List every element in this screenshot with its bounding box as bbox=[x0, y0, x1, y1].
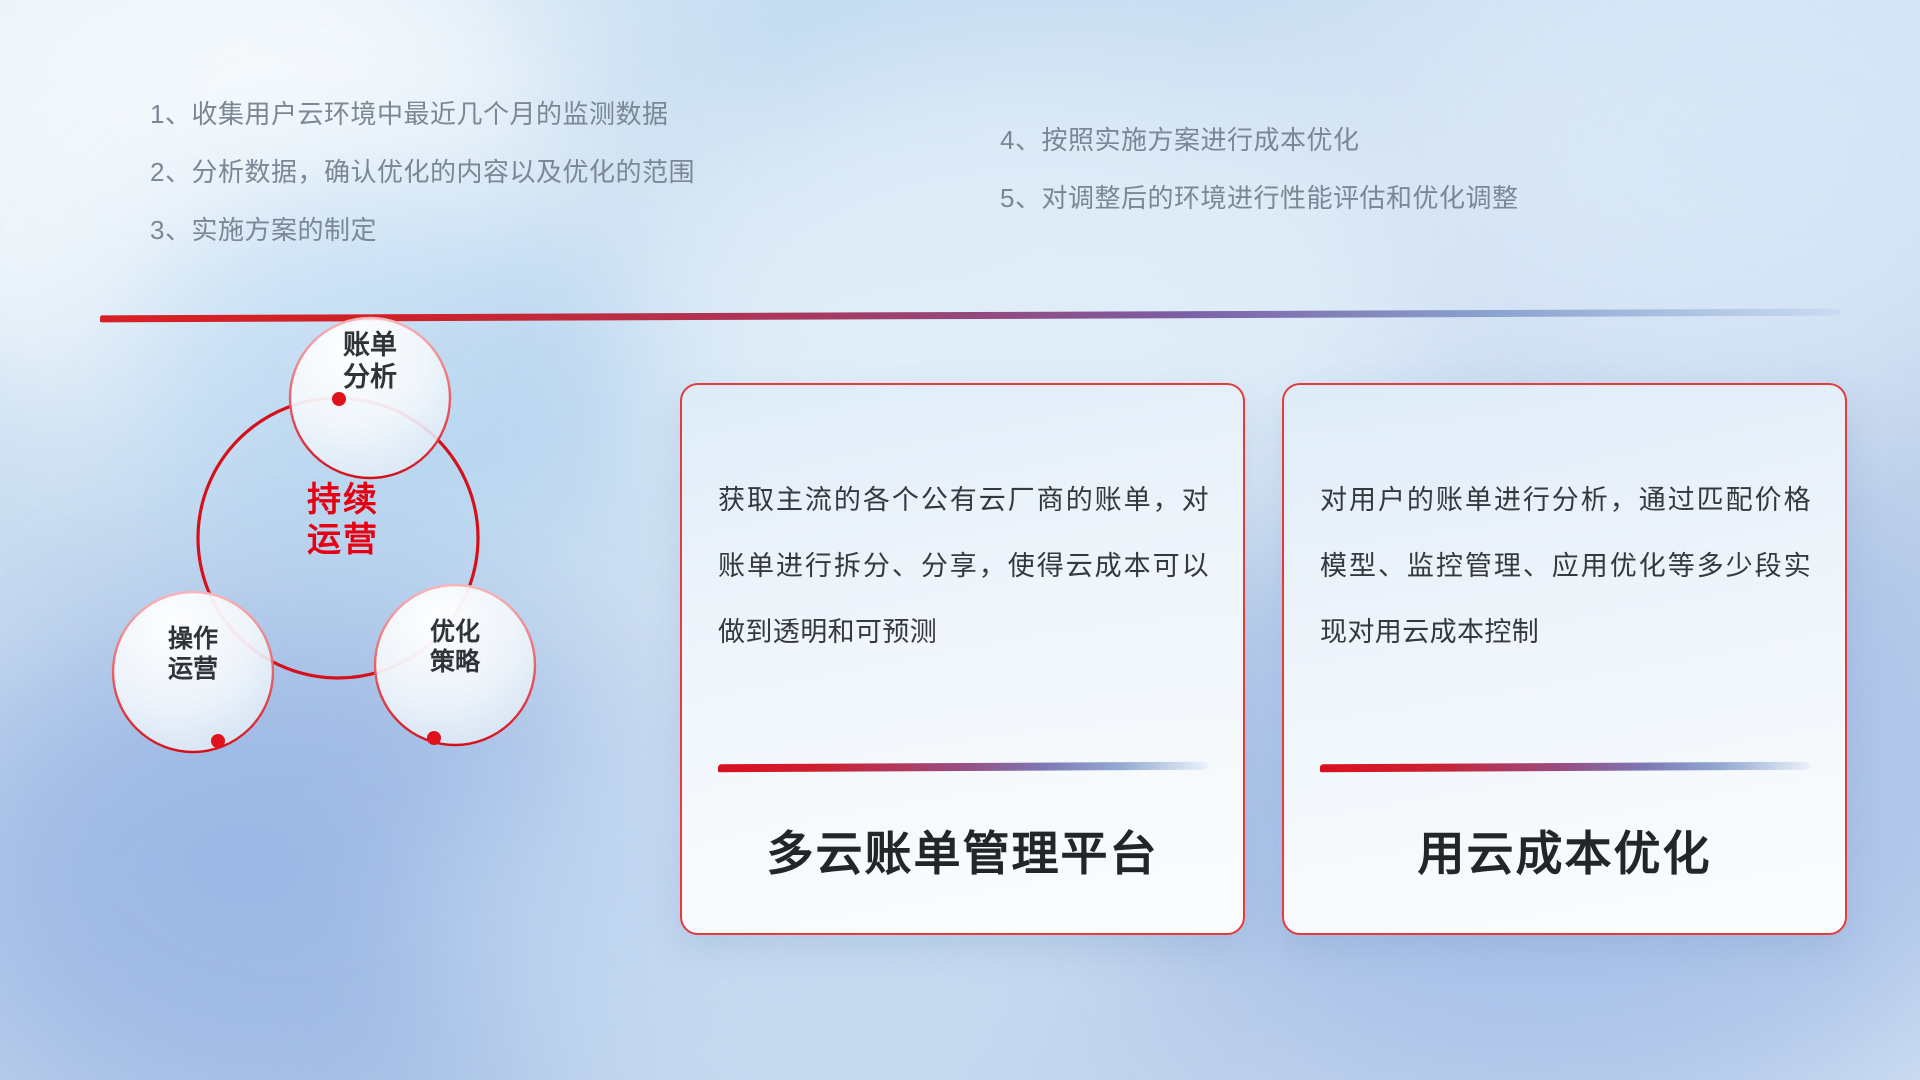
card-divider bbox=[718, 762, 1208, 773]
step-item: 3、实施方案的制定 bbox=[150, 217, 695, 243]
card-divider bbox=[1320, 762, 1810, 773]
step-item: 1、收集用户云环境中最近几个月的监测数据 bbox=[150, 101, 695, 127]
step-item: 2、分析数据，确认优化的内容以及优化的范围 bbox=[150, 159, 695, 185]
card-body-text: 对用户的账单进行分析，通过匹配价格模型、监控管理、应用优化等多少段实现对用云成本… bbox=[1320, 467, 1811, 665]
info-card-multicloud-billing[interactable]: 获取主流的各个公有云厂商的账单，对账单进行拆分、分享，使得云成本可以做到透明和可… bbox=[680, 383, 1245, 935]
node-dot-top bbox=[332, 392, 346, 406]
card-body-text: 获取主流的各个公有云厂商的账单，对账单进行拆分、分享，使得云成本可以做到透明和可… bbox=[718, 467, 1209, 665]
node-dot-left bbox=[211, 734, 225, 748]
slide-canvas: 1、收集用户云环境中最近几个月的监测数据 2、分析数据，确认优化的内容以及优化的… bbox=[0, 0, 1920, 1080]
venn-diagram: 账单 分析 持续 运营 操作 运营 优化 策略 bbox=[90, 290, 560, 790]
venn-label-strategy: 优化 策略 bbox=[385, 618, 525, 677]
info-card-cost-optimization[interactable]: 对用户的账单进行分析，通过匹配价格模型、监控管理、应用优化等多少段实现对用云成本… bbox=[1282, 383, 1847, 935]
venn-label-operations: 操作 运营 bbox=[123, 625, 263, 684]
step-item: 4、按照实施方案进行成本优化 bbox=[1000, 127, 1518, 153]
step-item: 5、对调整后的环境进行性能评估和优化调整 bbox=[1000, 185, 1518, 211]
background-blob bbox=[1500, 0, 1920, 380]
node-dot-right bbox=[427, 731, 441, 745]
steps-list-left: 1、收集用户云环境中最近几个月的监测数据 2、分析数据，确认优化的内容以及优化的… bbox=[150, 101, 695, 243]
card-title: 用云成本优化 bbox=[1284, 815, 1845, 884]
venn-label-bill-analysis: 账单 分析 bbox=[295, 330, 445, 394]
card-title: 多云账单管理平台 bbox=[682, 815, 1243, 884]
steps-list-right: 4、按照实施方案进行成本优化 5、对调整后的环境进行性能评估和优化调整 bbox=[1000, 127, 1518, 211]
venn-label-center: 持续 运营 bbox=[258, 480, 428, 560]
